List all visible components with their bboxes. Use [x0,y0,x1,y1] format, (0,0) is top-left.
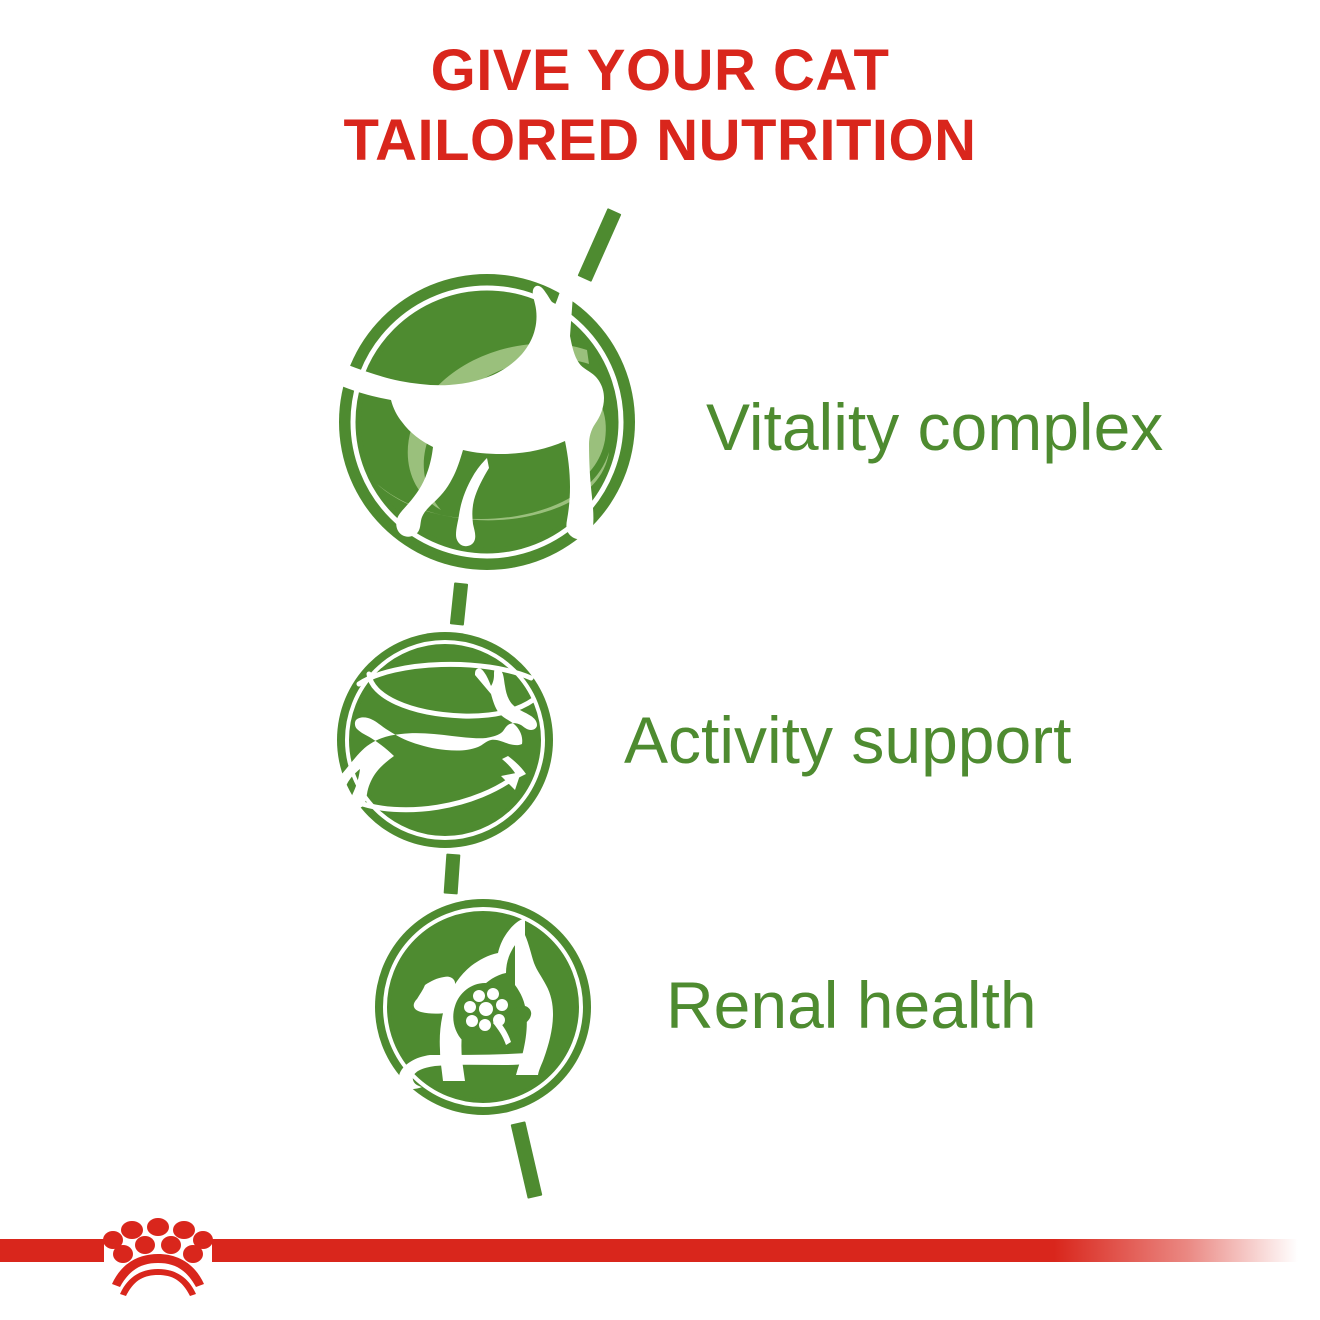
connector-dash-top [578,208,622,282]
benefit-label-vitality-complex: Vitality complex [706,394,1163,460]
promo-graphic-canvas: GIVE YOUR CAT TAILORED NUTRITION Vitalit… [0,0,1320,1320]
footer-bar-right [212,1239,1320,1262]
connector-dash-second-third [444,854,461,895]
footer-bar-left [0,1239,104,1262]
cat-walking-icon [337,272,637,572]
connector-dash-bottom [511,1121,543,1198]
page-title: GIVE YOUR CAT TAILORED NUTRITION [0,36,1320,176]
royal-canin-crown-icon [100,1218,216,1296]
cat-leaping-icon [335,630,555,850]
page-title-line-2: TAILORED NUTRITION [0,106,1320,176]
page-title-line-1: GIVE YOUR CAT [0,36,1320,106]
cat-kidney-icon [373,897,593,1117]
benefit-label-renal-health: Renal health [666,972,1037,1038]
connector-dash-first-second [450,582,468,625]
benefit-label-activity-support: Activity support [624,707,1072,773]
